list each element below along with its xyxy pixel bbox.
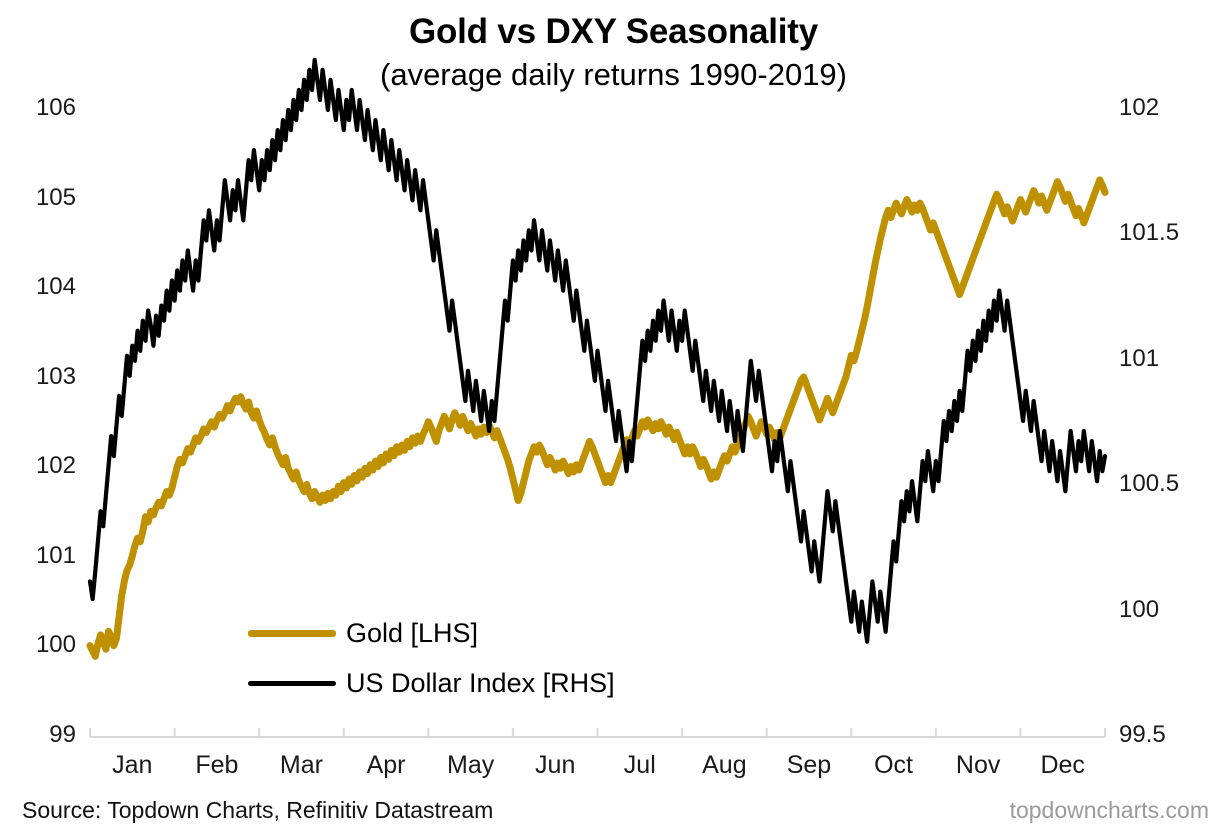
y-axis-left-tick-label: 102 [36,452,76,480]
y-axis-left-tick-label: 99 [49,721,76,749]
y-axis-left-tick-label: 105 [36,184,76,212]
y-axis-left-tick-label: 103 [36,363,76,391]
y-axis-left-tick-label: 104 [36,273,76,301]
x-axis-tick-label: Apr [341,751,431,780]
x-axis-tick-label: May [426,751,516,780]
plot-area [0,0,1227,837]
y-axis-right-tick-label: 101 [1119,345,1159,373]
x-axis-tick-label: Jan [87,751,177,780]
y-axis-left-tick-label: 101 [36,542,76,570]
y-axis-right-tick-label: 100 [1119,596,1159,624]
x-axis-tick-label: Jun [510,751,600,780]
series-line-dxy [90,60,1105,642]
legend-swatch-gold [248,630,336,637]
y-axis-left-tick-label: 106 [36,94,76,122]
x-axis-tick-label: Oct [849,751,939,780]
watermark: topdowncharts.com [1010,797,1209,824]
legend-swatch-dxy [248,681,336,686]
x-axis-tick-label: Feb [172,751,262,780]
y-axis-right-tick-label: 100.5 [1119,470,1179,498]
x-axis-tick-label: Mar [256,751,346,780]
x-axis-tick-label: Dec [1018,751,1108,780]
x-axis-tick-label: Aug [679,751,769,780]
x-axis-tick-label: Jul [595,751,685,780]
x-axis-tick-label: Nov [933,751,1023,780]
legend-item-dxy: US Dollar Index [RHS] [248,668,615,699]
y-axis-right-tick-label: 102 [1119,94,1159,122]
y-axis-right-tick-label: 99.5 [1119,721,1166,749]
chart-root: Gold vs DXY Seasonality (average daily r… [0,0,1227,837]
y-axis-left-tick-label: 100 [36,631,76,659]
x-axis-tick-label: Sep [764,751,854,780]
y-axis-right-tick-label: 101.5 [1119,219,1179,247]
legend-label-gold: Gold [LHS] [346,618,478,649]
source-note: Source: Topdown Charts, Refinitiv Datast… [22,797,493,824]
legend-item-gold: Gold [LHS] [248,618,478,649]
legend-label-dxy: US Dollar Index [RHS] [346,668,615,699]
